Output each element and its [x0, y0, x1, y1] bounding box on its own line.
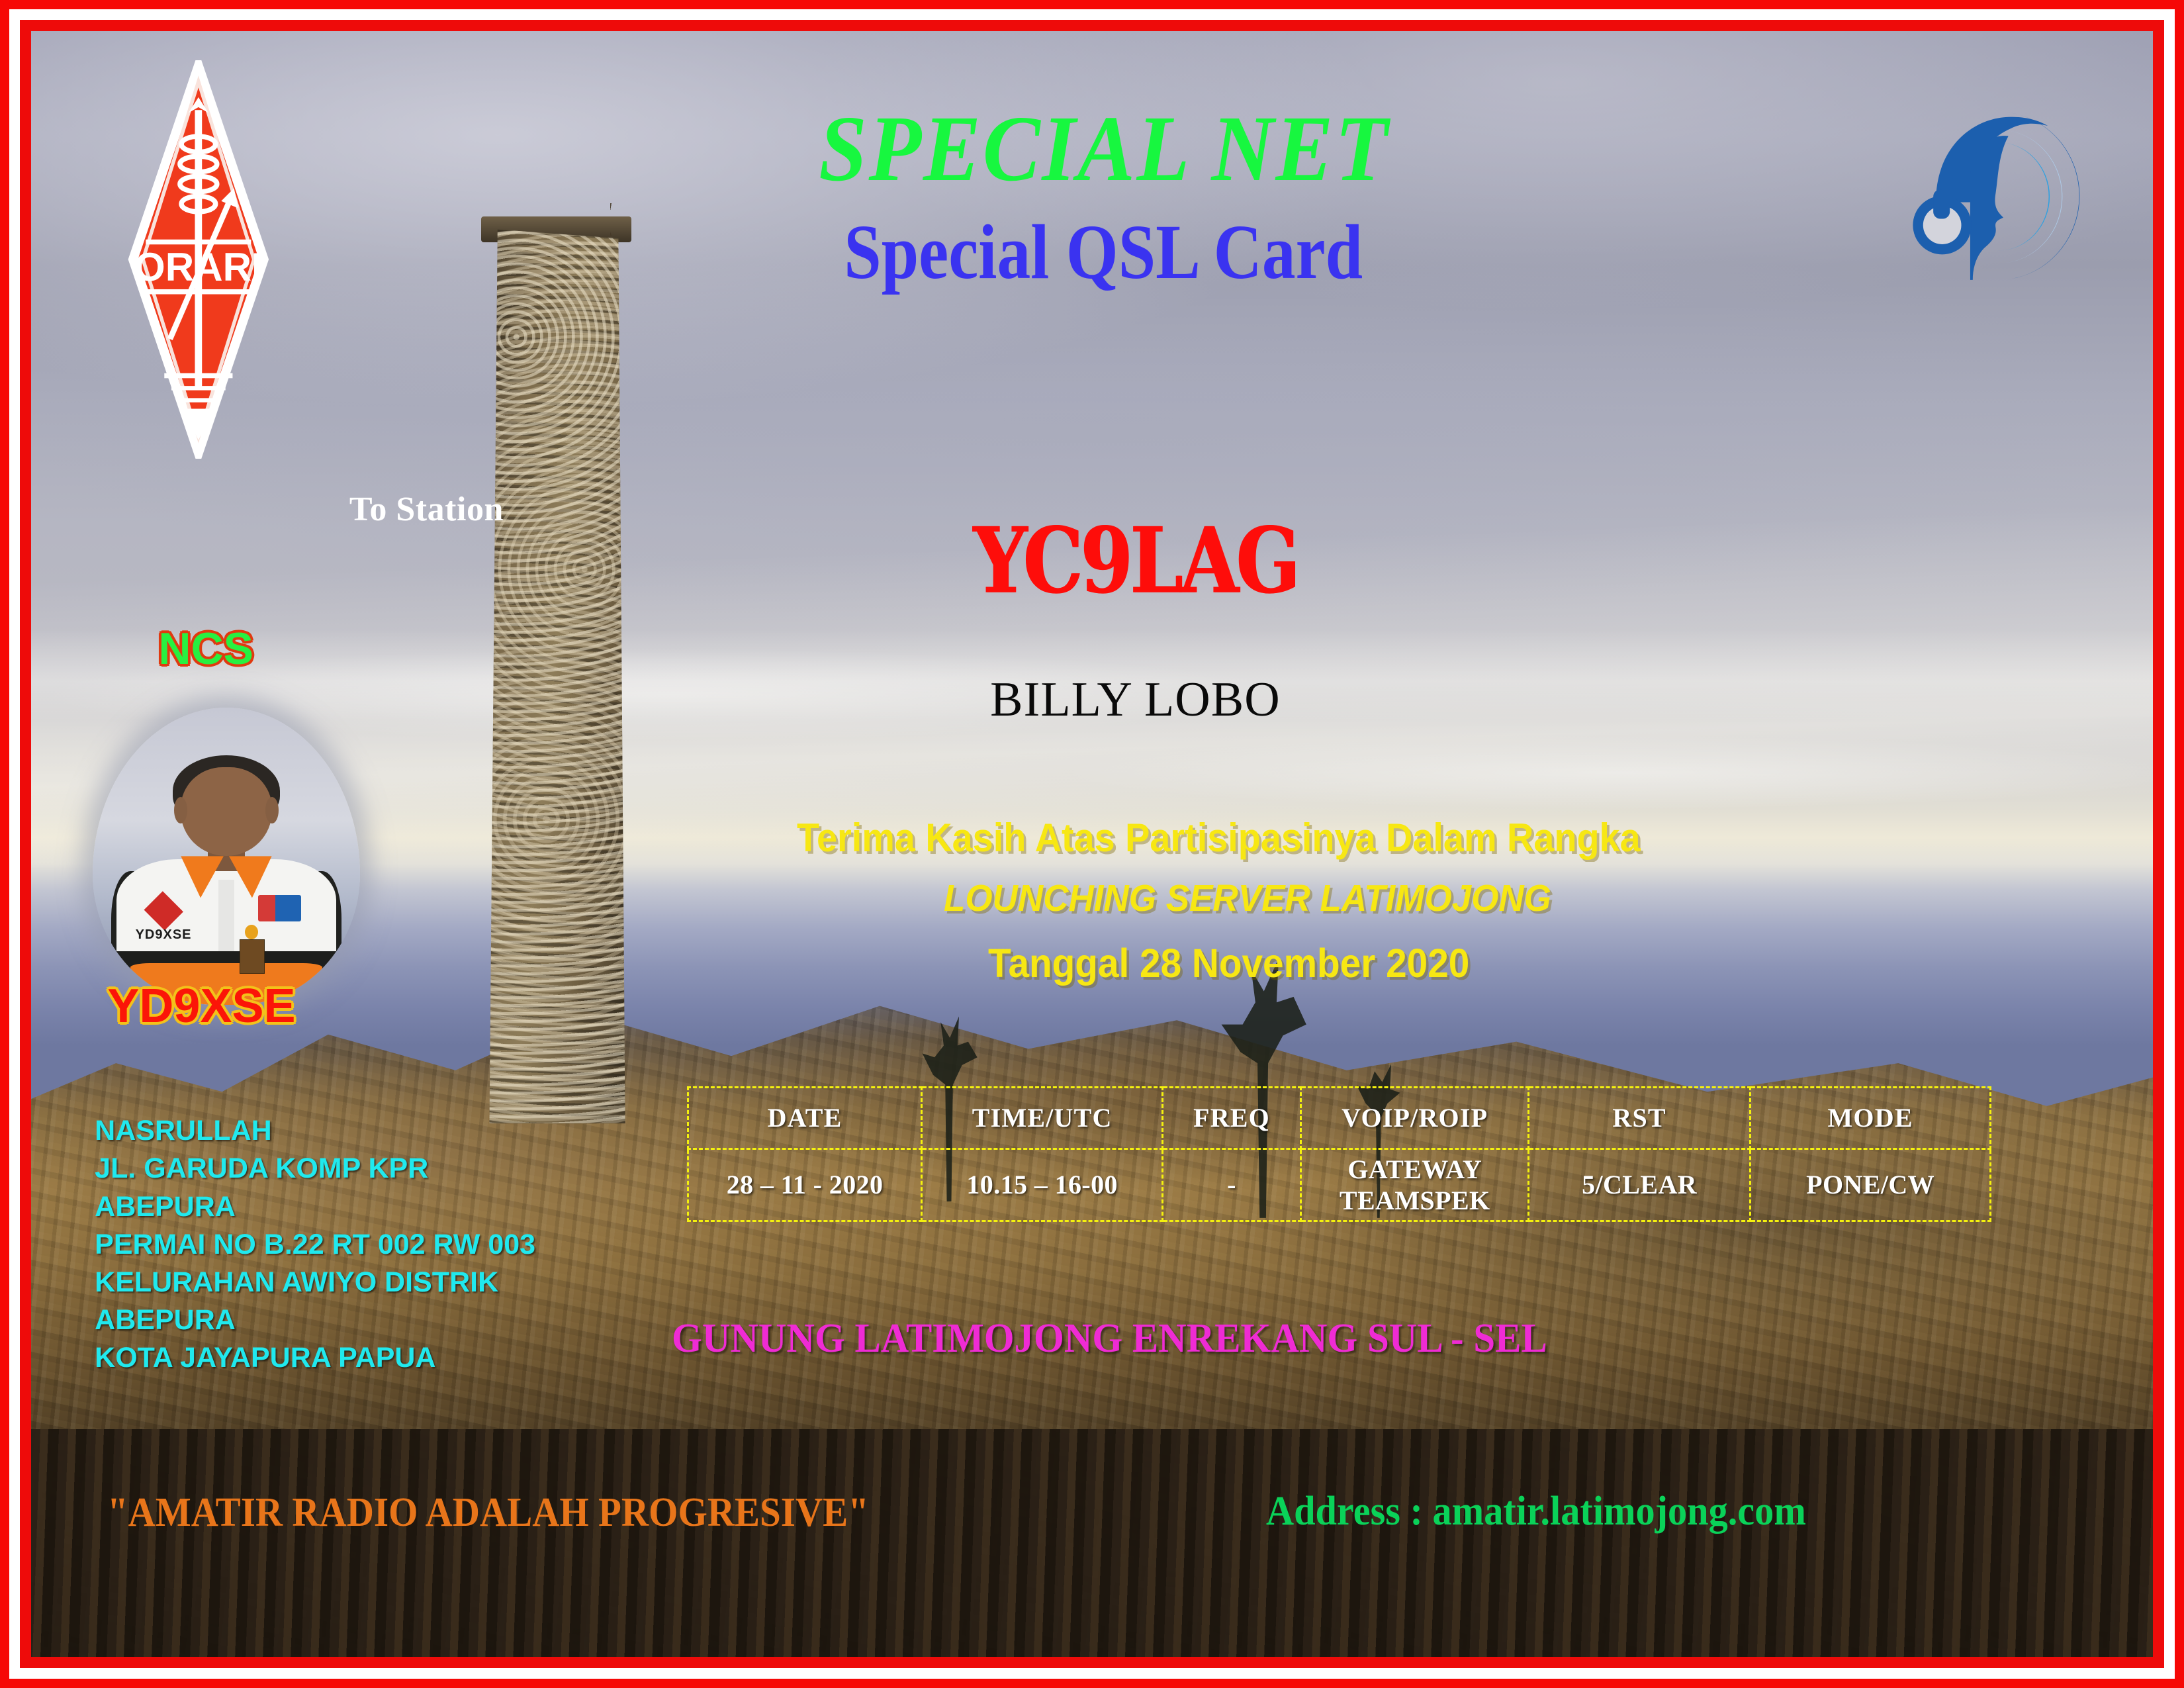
greeting-line-3: Tanggal 28 November 2020 — [988, 940, 1469, 986]
address-line: KELURAHAN AWIYO DISTRIK — [95, 1264, 535, 1301]
address-line: KOTA JAYAPURA PAPUA — [95, 1339, 535, 1377]
station-callsign: YC9LAG — [973, 516, 1297, 606]
cell-voip-line-2: TEAMSPEK — [1303, 1185, 1526, 1216]
table-header-row: DATE TIME/UTC FREQ VOIP/ROIP RST MODE — [688, 1087, 1991, 1149]
location-caption: GUNUNG LATIMOJONG ENREKANG SUL - SEL — [672, 1315, 1547, 1362]
ncs-callsign: YD9XSE — [107, 979, 295, 1033]
card-inner-border: ORARI — [20, 20, 2164, 1668]
cell-time: 10.15 – 16-00 — [922, 1149, 1162, 1221]
cell-date: 28 – 11 - 2020 — [688, 1149, 922, 1221]
table-row: 28 – 11 - 2020 10.15 – 16-00 - GATEWAY T… — [688, 1149, 1991, 1221]
portrait-face — [181, 767, 271, 857]
footer-website-address: Address : amatir.latimojong.com — [1266, 1488, 1806, 1535]
portrait-org-logo-patch — [258, 895, 301, 921]
qso-details-table: DATE TIME/UTC FREQ VOIP/ROIP RST MODE 28… — [687, 1086, 1992, 1222]
cell-voip: GATEWAY TEAMSPEK — [1301, 1149, 1529, 1221]
column-header-rst: RST — [1529, 1087, 1751, 1149]
column-header-date: DATE — [688, 1087, 922, 1149]
column-header-voip: VOIP/ROIP — [1301, 1087, 1529, 1149]
mailing-address: NASRULLAH JL. GARUDA KOMP KPR ABEPURA PE… — [95, 1112, 535, 1377]
portrait-shirt-callsign-text: YD9XSE — [136, 927, 192, 943]
greeting-line-2: LOUNCHING SERVER LATIMOJONG — [944, 876, 1551, 920]
cell-mode: PONE/CW — [1750, 1149, 1990, 1221]
portrait-ear-right — [265, 797, 279, 823]
address-line: ABEPURA — [95, 1188, 535, 1226]
cell-voip-line-1: GATEWAY — [1303, 1154, 1526, 1185]
card-border-gap: ORARI — [9, 9, 2175, 1679]
voip-headphone-logo — [1903, 54, 2107, 338]
to-station-label: To Station — [349, 490, 504, 529]
address-line: ABEPURA — [95, 1301, 535, 1339]
greeting-line-1: Terima Kasih Atas Partisipasinya Dalam R… — [797, 815, 1641, 861]
address-line: NASRULLAH — [95, 1112, 535, 1150]
column-header-freq: FREQ — [1162, 1087, 1300, 1149]
card-background-photo: ORARI — [31, 31, 2153, 1657]
portrait-id-card — [240, 939, 265, 973]
cell-rst: 5/CLEAR — [1529, 1149, 1751, 1221]
page-title: SPECIAL NET — [116, 101, 2068, 195]
qsl-card: ORARI — [0, 0, 2184, 1688]
operator-name: BILLY LOBO — [990, 675, 1281, 724]
column-header-mode: MODE — [1750, 1087, 1990, 1149]
ncs-label: NCS — [158, 623, 253, 675]
address-line: JL. GARUDA KOMP KPR — [95, 1150, 535, 1188]
cell-freq: - — [1162, 1149, 1300, 1221]
ncs-operator-photo: YD9XSE — [93, 708, 360, 1005]
footer-motto: "AMATIR RADIO ADALAH PROGRESIVE" — [107, 1489, 869, 1536]
address-line: PERMAI NO B.22 RT 002 RW 003 — [95, 1226, 535, 1264]
column-header-time: TIME/UTC — [922, 1087, 1162, 1149]
page-subtitle: Special QSL Card — [179, 213, 2004, 291]
